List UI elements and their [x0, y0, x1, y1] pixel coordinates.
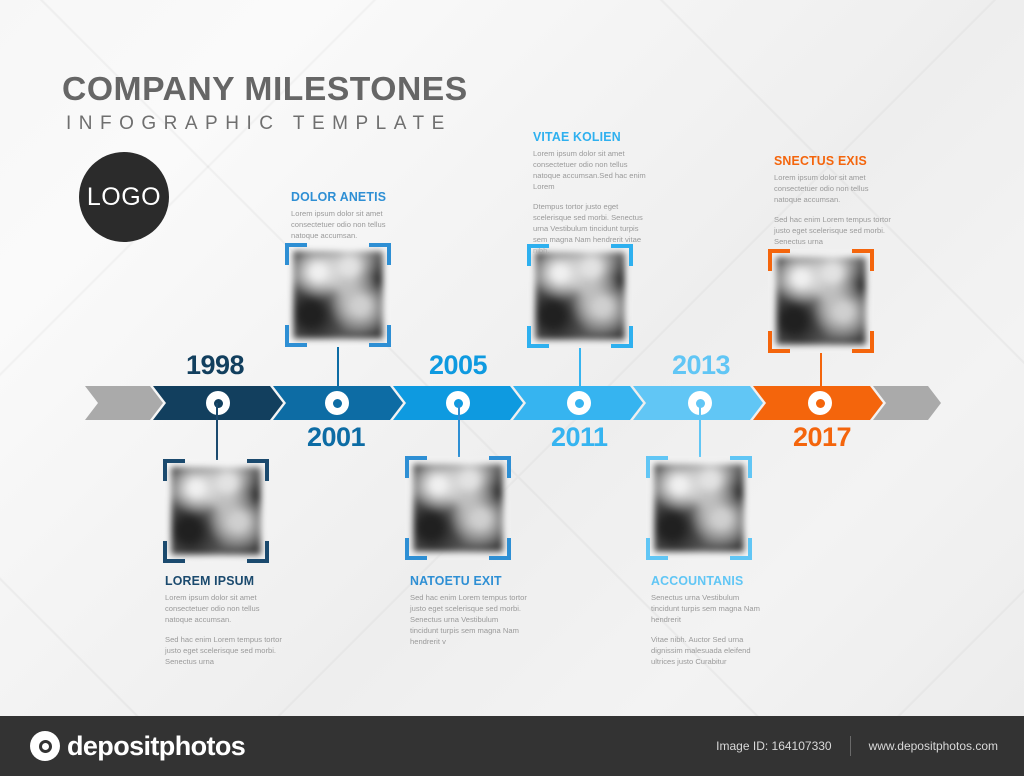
frame-corner-icon: [247, 459, 269, 481]
frame-corner-icon: [730, 538, 752, 560]
frame-corner-icon: [852, 331, 874, 353]
logo-badge: LOGO: [79, 152, 169, 242]
timeline-node-1998[interactable]: [206, 391, 230, 415]
frame-corner-icon: [405, 456, 427, 478]
milestone-photo-lorem-ipsum: [163, 459, 269, 563]
frame-corner-icon: [163, 459, 185, 481]
frame-corner-icon: [852, 249, 874, 271]
frame-corner-icon: [489, 456, 511, 478]
frame-corner-icon: [285, 243, 307, 265]
footer-divider: [850, 736, 851, 756]
camera-icon: [30, 731, 60, 761]
timeline-segment-cap-right: [873, 386, 941, 420]
timeline-node-2001[interactable]: [325, 391, 349, 415]
frame-corner-icon: [768, 249, 790, 271]
milestone-block-lorem-ipsum: LOREM IPSUM Lorem ipsum dolor sit amet c…: [165, 574, 283, 667]
frame-corner-icon: [163, 541, 185, 563]
milestone-block-snectus-exis: SNECTUS EXIS Lorem ipsum dolor sit amet …: [774, 154, 892, 247]
brand-name: depositphotos: [67, 731, 245, 762]
page-title: COMPANY MILESTONES: [62, 72, 468, 105]
year-label-1998: 1998: [186, 352, 244, 379]
watermark-footer: depositphotos Image ID: 164107330 www.de…: [0, 716, 1024, 776]
milestone-photo-vitae-kolien: [527, 244, 633, 348]
frame-corner-icon: [611, 244, 633, 266]
year-label-2011: 2011: [551, 424, 608, 451]
frame-corner-icon: [646, 456, 668, 478]
frame-corner-icon: [611, 326, 633, 348]
milestone-photo-dolor-anetis: [285, 243, 391, 347]
page-subtitle: INFOGRAPHIC TEMPLATE: [66, 113, 464, 135]
milestone-paragraph-2: Vitae nibh. Auctor Sed urna dignissim ma…: [651, 634, 769, 667]
milestone-title: DOLOR ANETIS: [291, 190, 403, 203]
frame-corner-icon: [730, 456, 752, 478]
infographic-canvas: COMPANY MILESTONES INFOGRAPHIC TEMPLATE …: [0, 0, 1024, 716]
frame-corner-icon: [285, 325, 307, 347]
milestone-block-natoetu-exit: NATOETU EXIT Sed hac enim Lorem tempus t…: [410, 574, 528, 647]
year-label-2017: 2017: [793, 424, 851, 451]
website-link[interactable]: www.depositphotos.com: [869, 739, 998, 753]
frame-corner-icon: [405, 538, 427, 560]
milestone-paragraph-1: Sed hac enim Lorem tempus tortor justo e…: [410, 592, 528, 647]
milestone-paragraph-1: Lorem ipsum dolor sit amet consectetuer …: [165, 592, 283, 625]
milestone-title: ACCOUNTANIS: [651, 574, 763, 587]
year-label-2005: 2005: [429, 352, 487, 379]
image-id-label: Image ID: 164107330: [716, 739, 831, 753]
milestone-title: LOREM IPSUM: [165, 574, 277, 587]
logo-label: LOGO: [87, 183, 161, 212]
footer-meta: Image ID: 164107330 www.depositphotos.co…: [716, 736, 998, 756]
frame-corner-icon: [768, 331, 790, 353]
milestone-block-dolor-anetis: DOLOR ANETIS Lorem ipsum dolor sit amet …: [291, 190, 409, 241]
milestone-photo-accountanis: [646, 456, 752, 560]
timeline-node-2017[interactable]: [808, 391, 832, 415]
header: COMPANY MILESTONES INFOGRAPHIC TEMPLATE: [66, 72, 464, 135]
frame-corner-icon: [646, 538, 668, 560]
milestone-paragraph-1: Lorem ipsum dolor sit amet consectetuer …: [774, 172, 892, 205]
connector-line-2005: [458, 403, 460, 457]
frame-corner-icon: [247, 541, 269, 563]
year-label-2001: 2001: [307, 424, 365, 451]
milestone-title: NATOETU EXIT: [410, 574, 522, 587]
milestone-paragraph-1: Lorem ipsum dolor sit amet consectetuer …: [291, 208, 409, 241]
frame-corner-icon: [369, 325, 391, 347]
milestone-photo-natoetu-exit: [405, 456, 511, 560]
milestone-title: SNECTUS EXIS: [774, 154, 886, 167]
milestone-paragraph-1: Senectus urna Vestibulum tincidunt turpi…: [651, 592, 769, 625]
year-label-2013: 2013: [672, 352, 730, 379]
milestone-title: VITAE KOLIEN: [533, 130, 645, 143]
milestone-block-vitae-kolien: VITAE KOLIEN Lorem ipsum dolor sit amet …: [533, 130, 651, 256]
connector-line-1998: [216, 403, 218, 460]
milestone-paragraph-2: Sed hac enim Lorem tempus tortor justo e…: [774, 214, 892, 247]
milestone-photo-snectus-exis: [768, 249, 874, 353]
milestone-paragraph-1: Lorem ipsum dolor sit amet consectetuer …: [533, 148, 651, 192]
milestone-block-accountanis: ACCOUNTANIS Senectus urna Vestibulum tin…: [651, 574, 769, 667]
frame-corner-icon: [489, 538, 511, 560]
frame-corner-icon: [369, 243, 391, 265]
milestone-paragraph-2: Sed hac enim Lorem tempus tortor justo e…: [165, 634, 283, 667]
frame-corner-icon: [527, 244, 549, 266]
timeline-node-2011[interactable]: [567, 391, 591, 415]
connector-line-2013: [699, 403, 701, 457]
timeline-segment-cap-left: [85, 386, 163, 420]
timeline-bar: [85, 386, 941, 420]
frame-corner-icon: [527, 326, 549, 348]
depositphotos-logo: depositphotos: [30, 731, 245, 762]
